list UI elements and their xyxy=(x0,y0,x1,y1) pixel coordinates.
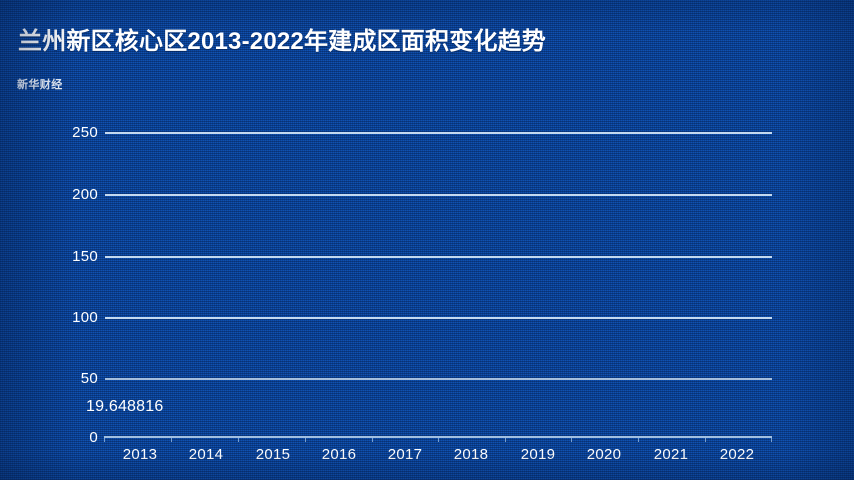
x-axis-label-2013: 2013 xyxy=(123,446,158,463)
x-axis-label-2022: 2022 xyxy=(720,446,755,463)
x-axis-label-2020: 2020 xyxy=(587,446,622,463)
x-axis-tick xyxy=(171,437,172,442)
x-axis-label-2018: 2018 xyxy=(454,446,489,463)
chart-source-label: 新华财经 xyxy=(17,76,63,92)
x-axis-label-2015: 2015 xyxy=(256,446,291,463)
x-axis-label-2017: 2017 xyxy=(388,446,423,463)
chart-title: 兰州新区核心区2013-2022年建成区面积变化趋势 xyxy=(18,21,546,56)
x-axis-label-2014: 2014 xyxy=(189,446,224,463)
y-axis-label-0: 0 xyxy=(89,429,98,446)
x-axis-label-2016: 2016 xyxy=(322,446,357,463)
y-axis-label-100: 100 xyxy=(72,309,98,326)
x-axis-tick xyxy=(104,437,105,442)
x-axis-tick xyxy=(305,437,306,442)
x-axis-tick xyxy=(638,437,639,442)
data-series-layer xyxy=(105,132,772,437)
x-axis-tick xyxy=(372,437,373,442)
x-axis-tick xyxy=(705,437,706,442)
x-axis-tick xyxy=(571,437,572,442)
x-axis-tick xyxy=(238,437,239,442)
x-axis-tick xyxy=(438,437,439,442)
y-axis-label-150: 150 xyxy=(72,248,98,265)
chart-frame: 兰州新区核心区2013-2022年建成区面积变化趋势 新华财经 250 200 … xyxy=(0,0,854,480)
y-axis-label-200: 200 xyxy=(72,186,98,203)
y-axis-label-50: 50 xyxy=(81,370,98,387)
x-axis-tick xyxy=(505,437,506,442)
y-axis-label-250: 250 xyxy=(72,124,98,141)
x-axis-label-2021: 2021 xyxy=(654,446,689,463)
x-axis-tick xyxy=(771,437,772,442)
plot-area: 250 200 150 100 50 0 19.648816 2013 2014… xyxy=(0,0,854,480)
x-axis-label-2019: 2019 xyxy=(521,446,556,463)
